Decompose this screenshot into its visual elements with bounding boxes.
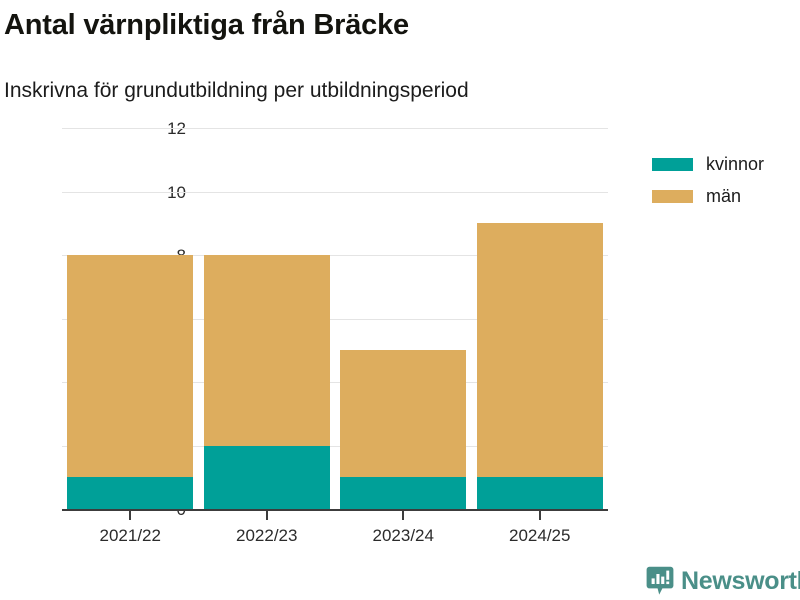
x-tick-label: 2024/25 (460, 526, 620, 546)
newsworthy-bubble-icon (646, 566, 674, 596)
plot-area: 2021/222022/232023/242024/25 (62, 128, 608, 509)
x-tick (539, 511, 541, 520)
x-tick (266, 511, 268, 520)
legend-label-kvinnor: kvinnor (706, 154, 764, 175)
gridline (62, 128, 608, 129)
legend-swatch-man (652, 190, 693, 203)
gridline (62, 192, 608, 193)
newsworthy-logo[interactable]: Newsworthy (646, 566, 800, 596)
bar-stack[interactable] (67, 255, 193, 509)
bar-segment-kvinnor[interactable] (67, 477, 193, 509)
bar-segment-män[interactable] (340, 350, 466, 477)
x-axis-line (62, 509, 608, 511)
legend: kvinnor män (652, 148, 800, 212)
legend-label-man: män (706, 186, 741, 207)
bar-stack[interactable] (340, 350, 466, 509)
bar-segment-män[interactable] (204, 255, 330, 446)
bar-segment-kvinnor[interactable] (204, 446, 330, 510)
legend-item-man[interactable]: män (652, 180, 800, 212)
chart-title: Antal värnpliktiga från Bräcke (4, 8, 644, 42)
bar-segment-män[interactable] (477, 223, 603, 477)
chart-subtitle: Inskrivna för grundutbildning per utbild… (4, 78, 644, 103)
legend-swatch-kvinnor (652, 158, 693, 171)
legend-item-kvinnor[interactable]: kvinnor (652, 148, 800, 180)
bar-segment-kvinnor[interactable] (477, 477, 603, 509)
x-tick (129, 511, 131, 520)
bar-segment-kvinnor[interactable] (340, 477, 466, 509)
bar-stack[interactable] (477, 223, 603, 509)
newsworthy-wordmark: Newsworthy (681, 569, 800, 594)
x-tick (402, 511, 404, 520)
bar-segment-män[interactable] (67, 255, 193, 477)
bar-stack[interactable] (204, 255, 330, 509)
